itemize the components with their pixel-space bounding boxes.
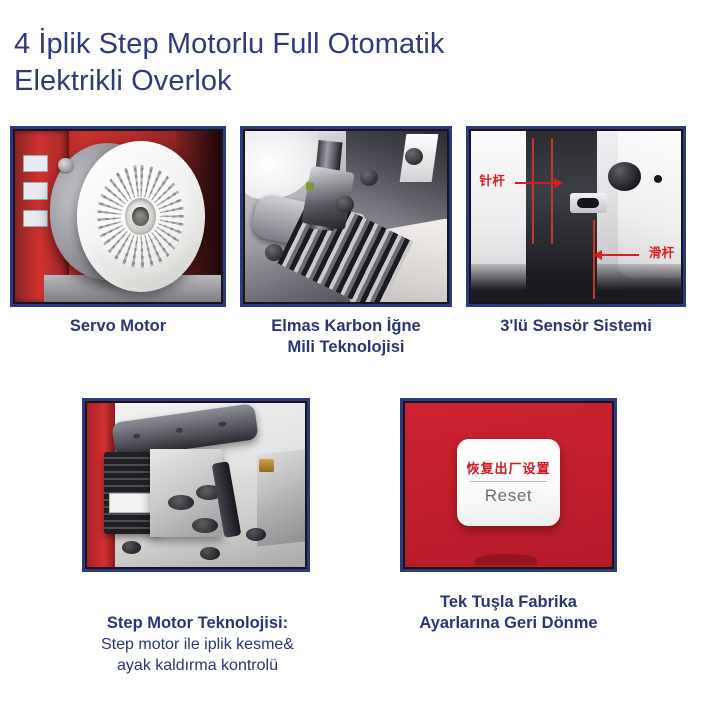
reset-button-cn-label: 恢复出厂设置 (466, 462, 550, 475)
caption-step-motor-title: Step Motor Teknolojisi: (107, 614, 288, 632)
annotation-slide-bar-arrow-icon (601, 254, 639, 256)
caption-step-motor: Step Motor Teknolojisi: Step motor ile i… (55, 592, 340, 697)
photo-factory-reset: 恢复出厂设置 Reset (405, 403, 612, 567)
caption-factory-reset: Tek Tuşla Fabrika Ayarlarına Geri Dönme (385, 592, 632, 634)
figure-frame-factory-reset: 恢复出厂设置 Reset (400, 398, 617, 572)
figure-sensor-system: 针杆 滑杆 (466, 126, 686, 307)
figure-factory-reset: 恢复出厂设置 Reset (400, 398, 617, 572)
reset-button[interactable]: 恢复出厂设置 Reset (457, 439, 561, 526)
figure-frame-servo-motor (10, 126, 226, 307)
annotation-slide-bar-label: 滑杆 (649, 247, 675, 260)
figure-frame-step-motor (82, 398, 310, 572)
figure-servo-motor (10, 126, 226, 307)
figure-frame-needle-bar (240, 126, 452, 307)
page-title: 4 İplik Step Motorlu Full Otomatik Elekt… (14, 26, 634, 100)
figure-needle-bar (240, 126, 452, 307)
caption-servo-motor: Servo Motor (10, 316, 226, 337)
photo-needle-bar (245, 131, 447, 302)
photo-step-motor (87, 403, 305, 567)
caption-needle-bar: Elmas Karbon İğne Mili Teknolojisi (234, 316, 458, 358)
caption-step-motor-detail: Step motor ile iplik kesme& ayak kaldırm… (55, 634, 340, 676)
reset-button-en-label: Reset (485, 487, 532, 504)
figure-frame-sensor-system: 针杆 滑杆 (466, 126, 686, 307)
photo-servo-motor (15, 131, 221, 302)
annotation-needle-bar-arrow-icon (515, 182, 555, 184)
photo-sensor-system: 针杆 滑杆 (471, 131, 681, 302)
reset-button-divider (470, 481, 547, 482)
caption-sensor-system: 3'lü Sensör Sistemi (462, 316, 690, 337)
annotation-needle-bar-label: 针杆 (479, 175, 505, 188)
figure-step-motor (82, 398, 310, 572)
